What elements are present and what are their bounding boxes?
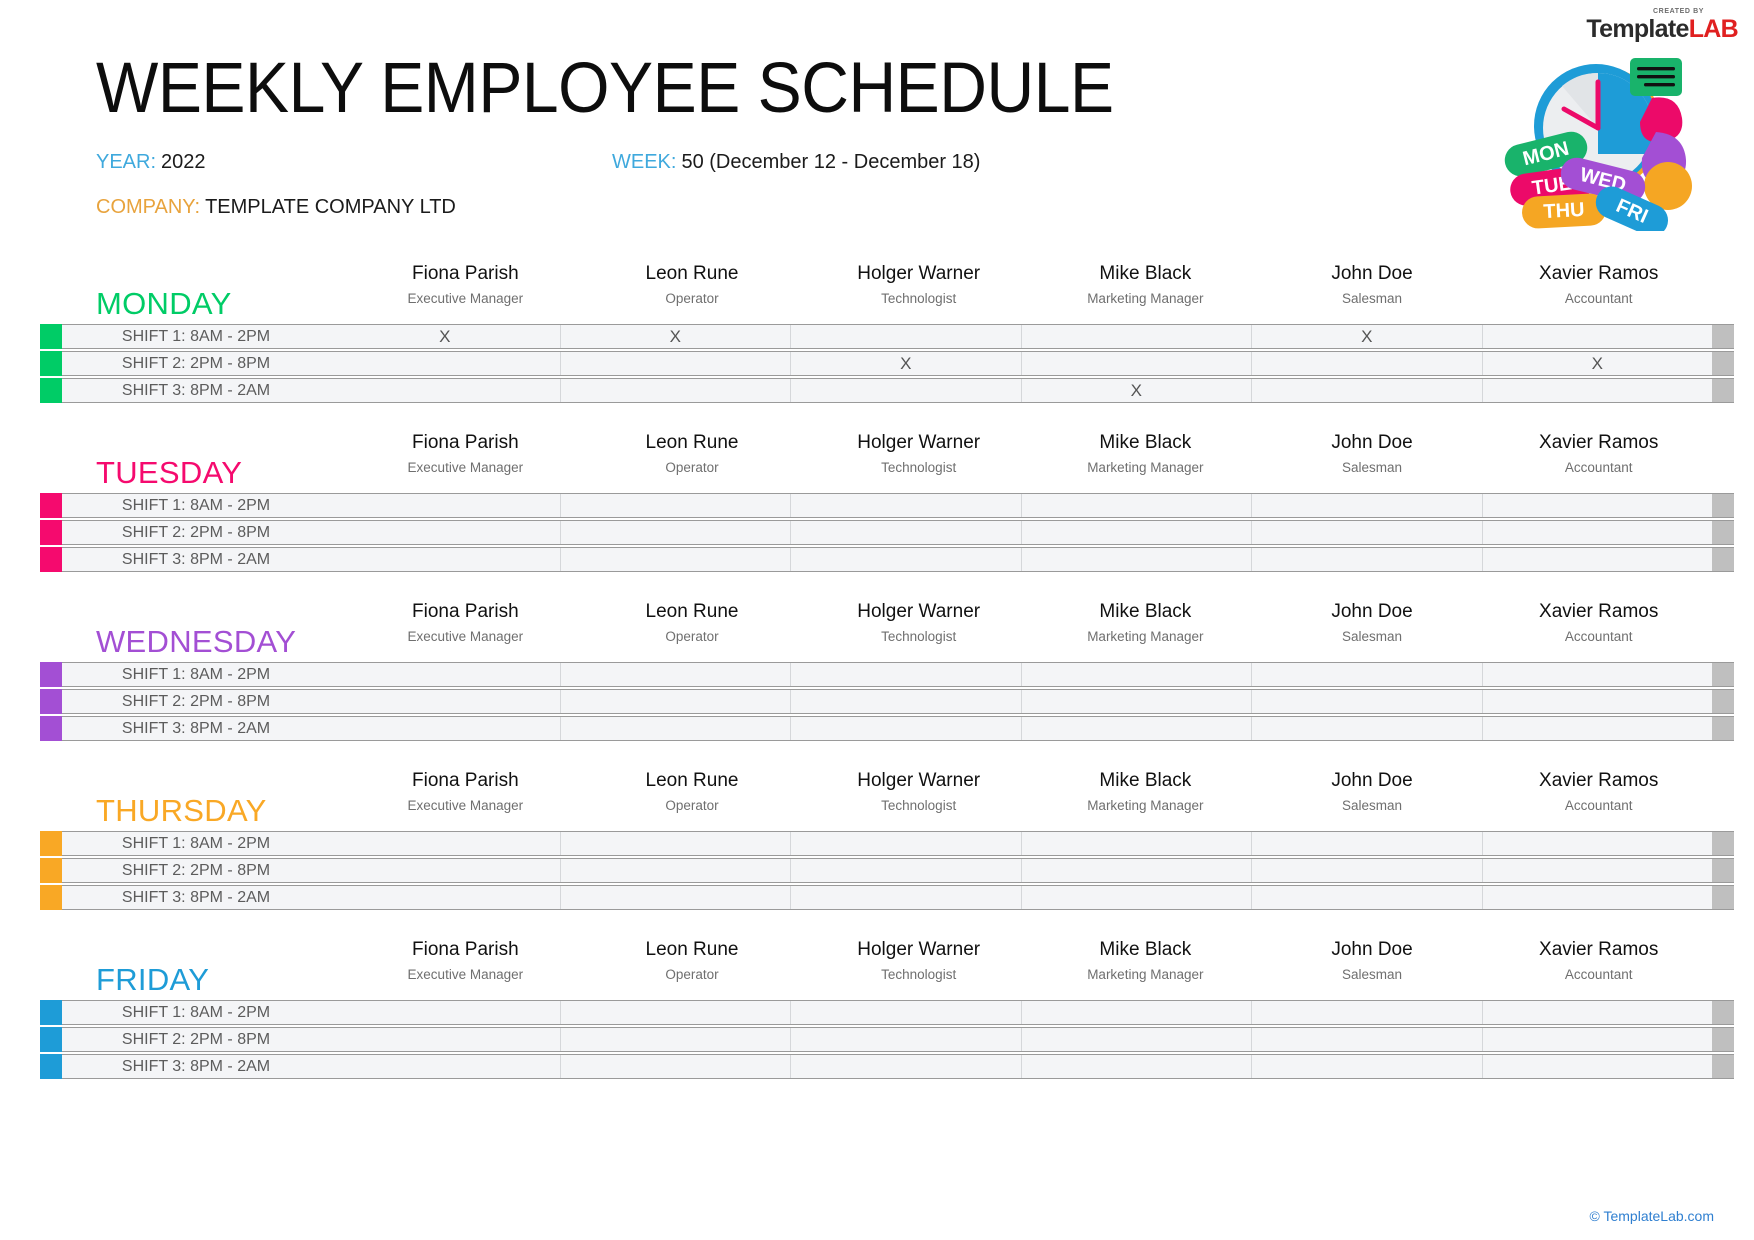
employee-name[interactable]: Mike Black [1034, 769, 1257, 793]
shift-cells [330, 547, 1712, 572]
employee-name[interactable]: John Doe [1261, 600, 1484, 624]
row-end-pad [1734, 662, 1754, 687]
shift-cell[interactable] [1482, 859, 1713, 882]
row-end-chip [1712, 493, 1734, 518]
shift-cell[interactable] [330, 521, 560, 544]
day-header: THURSDAYFiona ParishExecutive ManagerLeo… [0, 769, 1754, 831]
shift-row: SHIFT 1: 8AM - 2PM [0, 493, 1754, 518]
shift-cells [330, 662, 1712, 687]
row-end-pad [1734, 716, 1754, 741]
row-end-chip [1712, 689, 1734, 714]
employee-column-header: John DoeSalesman [1259, 600, 1486, 649]
day-color-chip [40, 858, 62, 883]
employee-name[interactable]: John Doe [1261, 938, 1484, 962]
shift-row: SHIFT 3: 8PM - 2AM [0, 547, 1754, 572]
shift-cell[interactable] [790, 494, 1021, 517]
employee-column-header: Holger WarnerTechnologist [805, 938, 1032, 987]
footer: © TemplateLab.com [1590, 1208, 1714, 1224]
employee-role[interactable]: Accountant [1487, 962, 1710, 988]
employee-role[interactable]: Salesman [1261, 455, 1484, 481]
employee-role[interactable]: Executive Manager [354, 962, 577, 988]
employee-role[interactable]: Operator [581, 793, 804, 819]
employee-name[interactable]: Leon Rune [581, 769, 804, 793]
shift-cell[interactable] [1251, 832, 1482, 855]
shift-cell[interactable] [1021, 1001, 1252, 1024]
shift-cell[interactable] [790, 379, 1021, 402]
day-color-chip [40, 716, 62, 741]
shift-cell[interactable]: X [1021, 379, 1252, 402]
day-color-chip [40, 831, 62, 856]
shift-cell[interactable] [1482, 717, 1713, 740]
employee-role[interactable]: Technologist [807, 455, 1030, 481]
shift-cells [330, 885, 1712, 910]
employee-name[interactable]: Holger Warner [807, 600, 1030, 624]
employee-role[interactable]: Accountant [1487, 793, 1710, 819]
shift-cell[interactable] [1482, 548, 1713, 571]
shift-cell[interactable] [1482, 1055, 1713, 1078]
shift-cell[interactable] [560, 663, 791, 686]
employee-name[interactable]: Holger Warner [807, 769, 1030, 793]
shift-cell[interactable] [1482, 886, 1713, 909]
day-color-chip [40, 689, 62, 714]
employee-column-header: Holger WarnerTechnologist [805, 262, 1032, 311]
shift-cell[interactable] [790, 548, 1021, 571]
shift-row: SHIFT 2: 2PM - 8PM [0, 520, 1754, 545]
shift-cell[interactable] [1021, 548, 1252, 571]
employee-name[interactable]: Xavier Ramos [1487, 938, 1710, 962]
row-end-pad [1734, 520, 1754, 545]
day-block-monday: MONDAYFiona ParishExecutive ManagerLeon … [0, 262, 1754, 403]
day-color-chip [40, 547, 62, 572]
shift-cell[interactable] [330, 1001, 560, 1024]
page-title: WEEKLY EMPLOYEE SCHEDULE [96, 52, 1305, 127]
shift-cell[interactable] [1251, 663, 1482, 686]
shift-cell[interactable] [1021, 325, 1252, 348]
shift-cell[interactable] [790, 325, 1021, 348]
svg-text:THU: THU [1543, 199, 1585, 223]
week-field: WEEK:50 (December 12 - December 18) [612, 151, 980, 174]
employee-name[interactable]: Xavier Ramos [1487, 769, 1710, 793]
day-color-chip [40, 351, 62, 376]
employee-column-header: John DoeSalesman [1259, 769, 1486, 818]
row-end-chip [1712, 662, 1734, 687]
shift-cell[interactable] [1251, 690, 1482, 713]
shift-cell[interactable] [1482, 325, 1713, 348]
employee-role[interactable]: Marketing Manager [1034, 624, 1257, 650]
shift-cell[interactable] [1021, 521, 1252, 544]
employee-name[interactable]: Fiona Parish [354, 431, 577, 455]
employee-column-header: Mike BlackMarketing Manager [1032, 938, 1259, 987]
employee-role[interactable]: Salesman [1261, 624, 1484, 650]
shift-cells [330, 1027, 1712, 1052]
employee-name[interactable]: Mike Black [1034, 938, 1257, 962]
employee-header-row: Fiona ParishExecutive ManagerLeon RuneOp… [352, 431, 1712, 480]
row-end-pad [1734, 378, 1754, 403]
employee-column-header: Xavier RamosAccountant [1485, 769, 1712, 818]
shift-cell[interactable]: X [790, 352, 1021, 375]
employee-role[interactable]: Operator [581, 624, 804, 650]
shift-label: SHIFT 2: 2PM - 8PM [62, 689, 330, 714]
employee-name[interactable]: Fiona Parish [354, 938, 577, 962]
shift-cells: XX [330, 351, 1712, 376]
employee-header-row: Fiona ParishExecutive ManagerLeon RuneOp… [352, 769, 1712, 818]
weekly-employee-schedule-page: CREATED BY TemplateLAB WEEKLY EMPLOYEE S… [0, 0, 1754, 1240]
shift-cell[interactable] [330, 663, 560, 686]
employee-role[interactable]: Salesman [1261, 962, 1484, 988]
employee-name[interactable]: Xavier Ramos [1487, 600, 1710, 624]
shift-cell[interactable] [1482, 521, 1713, 544]
row-end-chip [1712, 1054, 1734, 1079]
shift-cells [330, 689, 1712, 714]
employee-role[interactable]: Accountant [1487, 455, 1710, 481]
meta-row-company: COMPANY:TEMPLATE COMPANY LTD [96, 196, 1396, 224]
employee-role[interactable]: Technologist [807, 793, 1030, 819]
shift-cell[interactable] [1251, 859, 1482, 882]
row-end-pad [1734, 885, 1754, 910]
employee-column-header: Xavier RamosAccountant [1485, 431, 1712, 480]
shift-cell[interactable] [1021, 832, 1252, 855]
shift-cell[interactable] [560, 717, 791, 740]
shift-row: SHIFT 3: 8PM - 2AM [0, 885, 1754, 910]
shift-cell[interactable] [330, 717, 560, 740]
shift-cell[interactable] [560, 494, 791, 517]
day-color-chip [40, 1027, 62, 1052]
year-field: YEAR:2022 [96, 151, 206, 174]
shift-row: SHIFT 2: 2PM - 8PMXX [0, 351, 1754, 376]
shift-cell[interactable] [1251, 1001, 1482, 1024]
day-color-chip [40, 520, 62, 545]
shift-label: SHIFT 1: 8AM - 2PM [62, 324, 330, 349]
employee-name[interactable]: Leon Rune [581, 938, 804, 962]
shift-cell[interactable] [790, 1028, 1021, 1051]
employee-name[interactable]: Mike Black [1034, 431, 1257, 455]
shift-cell[interactable] [1021, 352, 1252, 375]
shift-cell[interactable] [330, 832, 560, 855]
shift-cell[interactable] [1482, 1028, 1713, 1051]
schedule-table: MONDAYFiona ParishExecutive ManagerLeon … [0, 262, 1754, 1107]
row-end-pad [1734, 547, 1754, 572]
employee-column-header: John DoeSalesman [1259, 262, 1486, 311]
shift-cell[interactable] [560, 832, 791, 855]
shift-cell[interactable] [330, 1028, 560, 1051]
shift-cell[interactable] [560, 1055, 791, 1078]
employee-role[interactable]: Accountant [1487, 624, 1710, 650]
shift-cells [330, 858, 1712, 883]
employee-role[interactable]: Technologist [807, 286, 1030, 312]
employee-name[interactable]: Mike Black [1034, 262, 1257, 286]
employee-column-header: John DoeSalesman [1259, 938, 1486, 987]
day-name-label: THURSDAY [96, 793, 267, 829]
day-header: WEDNESDAYFiona ParishExecutive ManagerLe… [0, 600, 1754, 662]
day-name-label: FRIDAY [96, 962, 209, 998]
shift-cell[interactable] [1251, 886, 1482, 909]
shift-cell[interactable] [330, 379, 560, 402]
shift-cell[interactable] [1482, 494, 1713, 517]
shift-cell[interactable] [1482, 663, 1713, 686]
shift-cells: XXX [330, 324, 1712, 349]
employee-name[interactable]: Holger Warner [807, 431, 1030, 455]
day-header: FRIDAYFiona ParishExecutive ManagerLeon … [0, 938, 1754, 1000]
employee-role[interactable]: Executive Manager [354, 793, 577, 819]
shift-cell[interactable] [790, 521, 1021, 544]
row-end-pad [1734, 1027, 1754, 1052]
day-block-thursday: THURSDAYFiona ParishExecutive ManagerLeo… [0, 769, 1754, 910]
day-color-chip [40, 1054, 62, 1079]
employee-name[interactable]: John Doe [1261, 769, 1484, 793]
shift-cell[interactable] [1482, 379, 1713, 402]
shift-cells [330, 716, 1712, 741]
day-name-label: WEDNESDAY [96, 624, 296, 660]
shift-cell[interactable] [1021, 663, 1252, 686]
shift-cell[interactable] [1251, 352, 1482, 375]
employee-column-header: Holger WarnerTechnologist [805, 431, 1032, 480]
shift-cells [330, 1054, 1712, 1079]
shift-label: SHIFT 2: 2PM - 8PM [62, 351, 330, 376]
shift-cells: X [330, 378, 1712, 403]
employee-column-header: Fiona ParishExecutive Manager [352, 938, 579, 987]
day-header: TUESDAYFiona ParishExecutive ManagerLeon… [0, 431, 1754, 493]
company-label: COMPANY: [96, 196, 200, 218]
shift-cell[interactable] [1251, 494, 1482, 517]
employee-column-header: Xavier RamosAccountant [1485, 938, 1712, 987]
shift-cell[interactable] [1021, 1028, 1252, 1051]
shift-label: SHIFT 3: 8PM - 2AM [62, 885, 330, 910]
employee-role[interactable]: Salesman [1261, 793, 1484, 819]
employee-column-header: Mike BlackMarketing Manager [1032, 262, 1259, 311]
day-color-chip [40, 885, 62, 910]
day-name-label: TUESDAY [96, 455, 242, 491]
shift-cell[interactable]: X [1482, 352, 1713, 375]
weekday-clock-illustration: MON TUE WED THU FRI [1456, 36, 1726, 231]
copyright-link[interactable]: © TemplateLab.com [1590, 1208, 1714, 1224]
row-end-chip [1712, 1027, 1734, 1052]
employee-name[interactable]: Leon Rune [581, 431, 804, 455]
shift-cell[interactable] [330, 859, 560, 882]
day-color-chip [40, 493, 62, 518]
row-end-chip [1712, 378, 1734, 403]
shift-cell[interactable] [560, 690, 791, 713]
employee-column-header: Fiona ParishExecutive Manager [352, 769, 579, 818]
shift-cell[interactable] [790, 663, 1021, 686]
row-end-pad [1734, 493, 1754, 518]
shift-label: SHIFT 2: 2PM - 8PM [62, 1027, 330, 1052]
shift-cell[interactable] [330, 494, 560, 517]
shift-label: SHIFT 1: 8AM - 2PM [62, 662, 330, 687]
shift-cell[interactable] [330, 548, 560, 571]
shift-cell[interactable] [1021, 494, 1252, 517]
employee-name[interactable]: Xavier Ramos [1487, 262, 1710, 286]
employee-column-header: Xavier RamosAccountant [1485, 600, 1712, 649]
employee-role[interactable]: Technologist [807, 624, 1030, 650]
day-color-chip [40, 324, 62, 349]
shift-cell[interactable] [1021, 859, 1252, 882]
employee-name[interactable]: John Doe [1261, 431, 1484, 455]
leaf-decoration [1640, 97, 1692, 210]
shift-cell[interactable] [560, 548, 791, 571]
company-field: COMPANY:TEMPLATE COMPANY LTD [96, 196, 456, 219]
shift-cell[interactable] [1021, 690, 1252, 713]
week-label: WEEK: [612, 151, 676, 173]
shift-cells [330, 1000, 1712, 1025]
row-end-pad [1734, 858, 1754, 883]
employee-column-header: Mike BlackMarketing Manager [1032, 600, 1259, 649]
employee-role[interactable]: Marketing Manager [1034, 286, 1257, 312]
employee-column-header: Leon RuneOperator [579, 262, 806, 311]
meta-row-year-week: YEAR:2022 WEEK:50 (December 12 - Decembe… [96, 151, 1396, 179]
shift-label: SHIFT 1: 8AM - 2PM [62, 493, 330, 518]
shift-cell[interactable] [1251, 717, 1482, 740]
employee-column-header: Holger WarnerTechnologist [805, 600, 1032, 649]
employee-role[interactable]: Operator [581, 962, 804, 988]
created-by-label: CREATED BY [1586, 8, 1704, 15]
shift-cell[interactable]: X [560, 325, 791, 348]
employee-name[interactable]: Fiona Parish [354, 769, 577, 793]
employee-role[interactable]: Operator [581, 286, 804, 312]
shift-cell[interactable] [1021, 886, 1252, 909]
employee-column-header: Fiona ParishExecutive Manager [352, 600, 579, 649]
day-color-chip [40, 662, 62, 687]
shift-cells [330, 520, 1712, 545]
employee-role[interactable]: Technologist [807, 962, 1030, 988]
shift-cell[interactable] [790, 832, 1021, 855]
employee-name[interactable]: Leon Rune [581, 600, 804, 624]
shift-label: SHIFT 3: 8PM - 2AM [62, 716, 330, 741]
shift-cell[interactable] [560, 859, 791, 882]
row-end-chip [1712, 324, 1734, 349]
shift-row: SHIFT 2: 2PM - 8PM [0, 1027, 1754, 1052]
day-color-chip [40, 378, 62, 403]
shift-cell[interactable] [1482, 690, 1713, 713]
employee-name[interactable]: Fiona Parish [354, 262, 577, 286]
row-end-chip [1712, 716, 1734, 741]
speech-bubble-icon [1630, 58, 1682, 96]
row-end-chip [1712, 351, 1734, 376]
employee-name[interactable]: Xavier Ramos [1487, 431, 1710, 455]
company-value[interactable]: TEMPLATE COMPANY LTD [205, 196, 456, 218]
row-end-pad [1734, 1000, 1754, 1025]
employee-role[interactable]: Marketing Manager [1034, 793, 1257, 819]
shift-cell[interactable] [330, 352, 560, 375]
row-end-chip [1712, 885, 1734, 910]
employee-role[interactable]: Salesman [1261, 286, 1484, 312]
shift-row: SHIFT 2: 2PM - 8PM [0, 689, 1754, 714]
employee-name[interactable]: Leon Rune [581, 262, 804, 286]
employee-column-header: Holger WarnerTechnologist [805, 769, 1032, 818]
row-end-pad [1734, 324, 1754, 349]
row-end-pad [1734, 351, 1754, 376]
employee-name[interactable]: Holger Warner [807, 262, 1030, 286]
shift-row: SHIFT 1: 8AM - 2PM [0, 831, 1754, 856]
shift-label: SHIFT 2: 2PM - 8PM [62, 520, 330, 545]
shift-cell[interactable]: X [1251, 325, 1482, 348]
shift-row: SHIFT 3: 8PM - 2AMX [0, 378, 1754, 403]
shift-cell[interactable] [790, 859, 1021, 882]
row-end-chip [1712, 520, 1734, 545]
row-end-pad [1734, 831, 1754, 856]
day-block-wednesday: WEDNESDAYFiona ParishExecutive ManagerLe… [0, 600, 1754, 741]
document-header: WEEKLY EMPLOYEE SCHEDULE YEAR:2022 WEEK:… [96, 52, 1396, 224]
shift-label: SHIFT 1: 8AM - 2PM [62, 1000, 330, 1025]
shift-cell[interactable] [790, 690, 1021, 713]
employee-column-header: Leon RuneOperator [579, 431, 806, 480]
shift-cell[interactable] [790, 1001, 1021, 1024]
day-color-chip [40, 1000, 62, 1025]
employee-name[interactable]: Fiona Parish [354, 600, 577, 624]
employee-column-header: Leon RuneOperator [579, 938, 806, 987]
shift-cell[interactable]: X [330, 325, 560, 348]
employee-header-row: Fiona ParishExecutive ManagerLeon RuneOp… [352, 938, 1712, 987]
shift-cell[interactable] [330, 886, 560, 909]
employee-name[interactable]: John Doe [1261, 262, 1484, 286]
shift-cells [330, 831, 1712, 856]
shift-row: SHIFT 1: 8AM - 2PM [0, 662, 1754, 687]
employee-role[interactable]: Marketing Manager [1034, 962, 1257, 988]
shift-cell[interactable] [1251, 1055, 1482, 1078]
shift-cell[interactable] [560, 352, 791, 375]
shift-label: SHIFT 3: 8PM - 2AM [62, 378, 330, 403]
year-label: YEAR: [96, 151, 156, 173]
shift-cell[interactable] [790, 886, 1021, 909]
employee-header-row: Fiona ParishExecutive ManagerLeon RuneOp… [352, 600, 1712, 649]
shift-cell[interactable] [560, 1001, 791, 1024]
shift-cells [330, 493, 1712, 518]
employee-column-header: Leon RuneOperator [579, 769, 806, 818]
shift-label: SHIFT 3: 8PM - 2AM [62, 1054, 330, 1079]
day-block-tuesday: TUESDAYFiona ParishExecutive ManagerLeon… [0, 431, 1754, 572]
employee-role[interactable]: Executive Manager [354, 455, 577, 481]
shift-cell[interactable] [1021, 1055, 1252, 1078]
shift-cell[interactable] [330, 1055, 560, 1078]
week-value[interactable]: 50 (December 12 - December 18) [681, 151, 980, 173]
shift-row: SHIFT 1: 8AM - 2PM [0, 1000, 1754, 1025]
employee-role[interactable]: Marketing Manager [1034, 455, 1257, 481]
shift-cell[interactable] [1021, 717, 1252, 740]
shift-cell[interactable] [560, 379, 791, 402]
shift-cell[interactable] [560, 886, 791, 909]
employee-header-row: Fiona ParishExecutive ManagerLeon RuneOp… [352, 262, 1712, 311]
shift-cell[interactable] [560, 521, 791, 544]
day-header: MONDAYFiona ParishExecutive ManagerLeon … [0, 262, 1754, 324]
shift-cell[interactable] [1251, 548, 1482, 571]
shift-cell[interactable] [790, 717, 1021, 740]
shift-label: SHIFT 2: 2PM - 8PM [62, 858, 330, 883]
employee-name[interactable]: Mike Black [1034, 600, 1257, 624]
employee-column-header: Xavier RamosAccountant [1485, 262, 1712, 311]
employee-column-header: Leon RuneOperator [579, 600, 806, 649]
shift-cell[interactable] [1482, 832, 1713, 855]
employee-name[interactable]: Holger Warner [807, 938, 1030, 962]
day-block-friday: FRIDAYFiona ParishExecutive ManagerLeon … [0, 938, 1754, 1079]
row-end-pad [1734, 689, 1754, 714]
shift-label: SHIFT 1: 8AM - 2PM [62, 831, 330, 856]
shift-cell[interactable] [1482, 1001, 1713, 1024]
employee-column-header: Mike BlackMarketing Manager [1032, 431, 1259, 480]
employee-role[interactable]: Operator [581, 455, 804, 481]
shift-cell[interactable] [330, 690, 560, 713]
employee-role[interactable]: Executive Manager [354, 286, 577, 312]
shift-cell[interactable] [790, 1055, 1021, 1078]
employee-column-header: Fiona ParishExecutive Manager [352, 262, 579, 311]
shift-cell[interactable] [1251, 1028, 1482, 1051]
shift-cell[interactable] [1251, 379, 1482, 402]
year-value[interactable]: 2022 [161, 151, 206, 173]
shift-cell[interactable] [560, 1028, 791, 1051]
row-end-chip [1712, 1000, 1734, 1025]
shift-cell[interactable] [1251, 521, 1482, 544]
employee-role[interactable]: Executive Manager [354, 624, 577, 650]
employee-role[interactable]: Accountant [1487, 286, 1710, 312]
shift-row: SHIFT 1: 8AM - 2PMXXX [0, 324, 1754, 349]
